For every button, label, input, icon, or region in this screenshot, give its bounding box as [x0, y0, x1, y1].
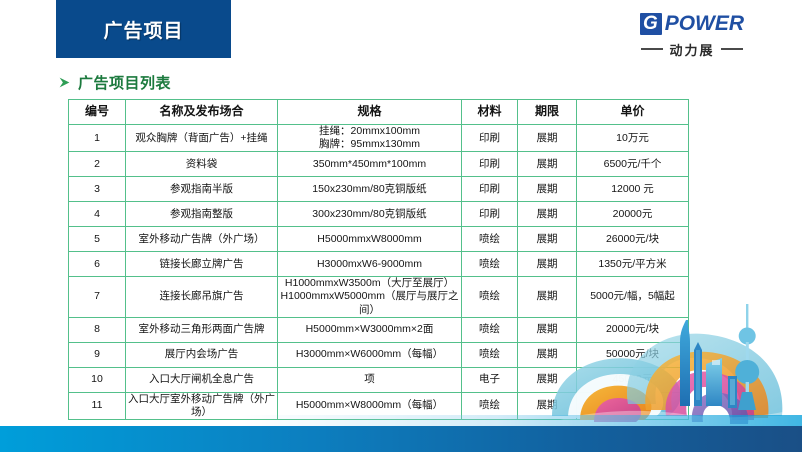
cell-material: 喷绘 — [462, 317, 518, 342]
cell-price: 20000元/块 — [577, 317, 689, 342]
cell-spec: H5000mmxW8000mm — [278, 227, 462, 252]
cell-spec: H1000mmxW3500m（大厅至展厅）H1000mmxW5000mm（展厅与… — [278, 277, 462, 317]
cell-material: 喷绘 — [462, 252, 518, 277]
cell-no: 5 — [69, 227, 126, 252]
cell-spec-line-2: 胸牌：95mmx130mm — [280, 138, 459, 151]
cell-spec: H5000mm×W3000mm×2面 — [278, 317, 462, 342]
cell-term: 展期 — [518, 342, 577, 367]
logo-g-mark: G — [640, 13, 662, 35]
cell-name: 入口大厅闸机全息广告 — [126, 367, 278, 392]
oriental-pearl-tower — [735, 304, 759, 410]
cell-spec: H3000mxW6-9000mm — [278, 252, 462, 277]
page-title: 广告项目 — [103, 16, 183, 43]
logo-subtitle: 动力展 — [669, 40, 714, 59]
cell-spec-line-2: H1000mmxW5000mm（展厅与展厅之间） — [280, 290, 459, 316]
slide-title-banner: 广告项目 — [56, 0, 231, 58]
cell-material: 印刷 — [462, 177, 518, 202]
cell-term: 展期 — [518, 277, 577, 317]
cell-material: 喷绘 — [462, 227, 518, 252]
cell-spec: H3000mm×W6000mm（每幅） — [278, 342, 462, 367]
cell-name: 链接长廊立牌广告 — [126, 252, 278, 277]
cell-name: 观众胸牌（背面广告）+挂绳 — [126, 125, 278, 152]
logo-wordmark-row: G POWER — [612, 10, 772, 38]
cell-term: 展期 — [518, 152, 577, 177]
cell-price: 12000 元 — [577, 177, 689, 202]
cell-term: 展期 — [518, 367, 577, 392]
section-heading-label: 广告项目列表 — [78, 72, 171, 93]
col-header-name: 名称及发布场合 — [126, 100, 278, 125]
cell-name: 室外移动三角形两面广告牌 — [126, 317, 278, 342]
bottom-bar-fade — [0, 415, 802, 426]
cell-price: 26000元/块 — [577, 227, 689, 252]
table-header-row: 编号 名称及发布场合 规格 材料 期限 单价 — [69, 100, 689, 125]
col-header-material: 材料 — [462, 100, 518, 125]
table-row: 9展厅内会场广告H3000mm×W6000mm（每幅）喷绘展期50000元/块 — [69, 342, 689, 367]
cell-price: 20000元 — [577, 202, 689, 227]
slide-canvas: 广告项目 G POWER 动力展 广告项目列表 编号 — [0, 0, 802, 452]
cell-price: 6500元/千个 — [577, 152, 689, 177]
table-row: 1观众胸牌（背面广告）+挂绳挂绳：20mmx100mm胸牌：95mmx130mm… — [69, 125, 689, 152]
cell-material: 印刷 — [462, 152, 518, 177]
cell-spec: 350mm*450mm*100mm — [278, 152, 462, 177]
cell-material: 印刷 — [462, 202, 518, 227]
cell-spec-line-1: H1000mmxW3500m（大厅至展厅） — [280, 277, 459, 290]
cell-price: 5000元/幅，5幅起 — [577, 277, 689, 317]
cell-spec: 挂绳：20mmx100mm胸牌：95mmx130mm — [278, 125, 462, 152]
brand-logo: G POWER 动力展 — [612, 10, 772, 62]
cell-no: 10 — [69, 367, 126, 392]
cell-no: 6 — [69, 252, 126, 277]
ad-items-table: 编号 名称及发布场合 规格 材料 期限 单价 1观众胸牌（背面广告）+挂绳挂绳：… — [68, 99, 689, 420]
table-row: 2资料袋350mm*450mm*100mm印刷展期6500元/千个 — [69, 152, 689, 177]
cell-price: 50000元/块 — [577, 342, 689, 367]
cell-price: 10万元 — [577, 125, 689, 152]
logo-power-text: POWER — [665, 12, 744, 36]
cell-name: 参观指南整版 — [126, 202, 278, 227]
cell-material: 印刷 — [462, 125, 518, 152]
cell-spec-line-1: 挂绳：20mmx100mm — [280, 125, 459, 138]
table-row: 8室外移动三角形两面广告牌H5000mm×W3000mm×2面喷绘展期20000… — [69, 317, 689, 342]
cell-term: 展期 — [518, 125, 577, 152]
section-heading: 广告项目列表 — [58, 72, 171, 93]
cell-name: 室外移动广告牌（外广场） — [126, 227, 278, 252]
table-row: 10入口大厅闸机全息广告项电子展期45000元 — [69, 367, 689, 392]
ad-items-table-container: 编号 名称及发布场合 规格 材料 期限 单价 1观众胸牌（背面广告）+挂绳挂绳：… — [68, 99, 688, 420]
cell-material: 喷绘 — [462, 277, 518, 317]
table-row: 6链接长廊立牌广告H3000mxW6-9000mm喷绘展期1350元/平方米 — [69, 252, 689, 277]
table-header: 编号 名称及发布场合 规格 材料 期限 单价 — [69, 100, 689, 125]
cell-no: 4 — [69, 202, 126, 227]
cell-no: 2 — [69, 152, 126, 177]
table-row: 7连接长廊吊旗广告H1000mmxW3500m（大厅至展厅）H1000mmxW5… — [69, 277, 689, 317]
cell-name: 连接长廊吊旗广告 — [126, 277, 278, 317]
table-row: 4参观指南整版300x230mm/80克铜版纸印刷展期20000元 — [69, 202, 689, 227]
logo-dash-left-icon — [641, 48, 663, 50]
cell-no: 9 — [69, 342, 126, 367]
col-header-no: 编号 — [69, 100, 126, 125]
cell-material: 喷绘 — [462, 342, 518, 367]
cell-term: 展期 — [518, 177, 577, 202]
cell-name: 资料袋 — [126, 152, 278, 177]
cell-term: 展期 — [518, 202, 577, 227]
cell-name: 参观指南半版 — [126, 177, 278, 202]
cell-term: 展期 — [518, 317, 577, 342]
cell-spec: 项 — [278, 367, 462, 392]
cell-spec: 150x230mm/80克铜版纸 — [278, 177, 462, 202]
table-row: 5室外移动广告牌（外广场）H5000mmxW8000mm喷绘展期26000元/块 — [69, 227, 689, 252]
bottom-blue-bar — [0, 426, 802, 452]
col-header-spec: 规格 — [278, 100, 462, 125]
table-body: 1观众胸牌（背面广告）+挂绳挂绳：20mmx100mm胸牌：95mmx130mm… — [69, 125, 689, 420]
col-header-term: 期限 — [518, 100, 577, 125]
triangle-right-icon — [58, 76, 71, 89]
logo-subtitle-row: 动力展 — [612, 40, 772, 58]
cell-term: 展期 — [518, 252, 577, 277]
cell-price: 1350元/平方米 — [577, 252, 689, 277]
table-row: 3参观指南半版150x230mm/80克铜版纸印刷展期12000 元 — [69, 177, 689, 202]
cell-no: 8 — [69, 317, 126, 342]
cell-no: 1 — [69, 125, 126, 152]
cell-spec: 300x230mm/80克铜版纸 — [278, 202, 462, 227]
cell-no: 7 — [69, 277, 126, 317]
logo-dash-right-icon — [721, 48, 743, 50]
cell-term: 展期 — [518, 227, 577, 252]
cell-price: 45000元 — [577, 367, 689, 392]
cell-name: 展厅内会场广告 — [126, 342, 278, 367]
cell-no: 3 — [69, 177, 126, 202]
col-header-price: 单价 — [577, 100, 689, 125]
cell-material: 电子 — [462, 367, 518, 392]
